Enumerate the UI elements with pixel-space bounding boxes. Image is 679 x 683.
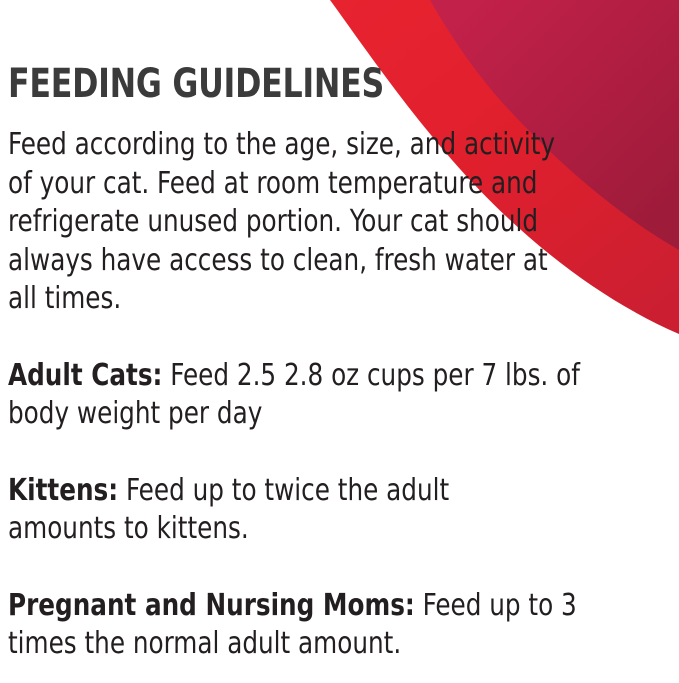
panel-content: FEEDING GUIDELINES Feed according to the…: [8, 0, 668, 664]
guideline-label-kittens: Kittens:: [8, 473, 118, 508]
guideline-kittens: Kittens: Feed up to twice the adult amou…: [8, 434, 535, 549]
feeding-guidelines-panel: FEEDING GUIDELINES Feed according to the…: [0, 0, 679, 683]
guideline-label-adult-cats: Adult Cats:: [8, 358, 162, 393]
guideline-adult-cats: Adult Cats: Feed 2.5 2.8 oz cups per 7 l…: [8, 319, 638, 434]
guideline-label-pregnant-nursing-moms: Pregnant and Nursing Moms:: [8, 588, 415, 623]
intro-paragraph: Feed according to the age, size, and act…: [8, 104, 557, 319]
guideline-pregnant-nursing-moms: Pregnant and Nursing Moms: Feed up to 3 …: [8, 549, 638, 664]
body-text-block: Feed according to the age, size, and act…: [8, 104, 665, 664]
page-title: FEEDING GUIDELINES: [8, 0, 589, 104]
